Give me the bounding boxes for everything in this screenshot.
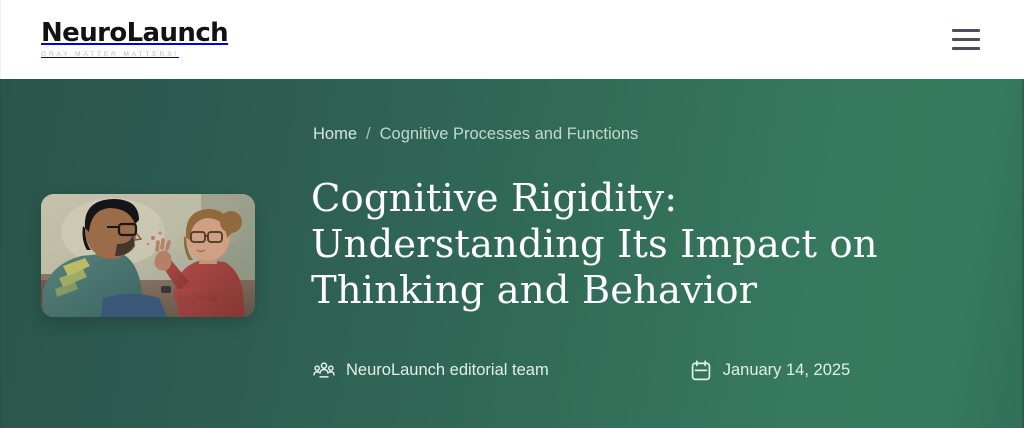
article-thumbnail[interactable] [41, 194, 255, 317]
thumbnail-illustration [41, 194, 255, 317]
breadcrumb-item-current[interactable]: Cognitive Processes and Functions [380, 125, 639, 144]
article-author-label: NeuroLaunch editorial team [346, 361, 549, 380]
page-root: NeuroLaunch GRAY MATTER MATTERS! [0, 0, 1024, 428]
users-group-icon [313, 359, 335, 381]
article-author: NeuroLaunch editorial team [313, 359, 549, 381]
brand-tagline: GRAY MATTER MATTERS! [41, 52, 228, 59]
page-title: Cognitive Rigidity: Understanding Its Im… [311, 176, 911, 314]
site-logo[interactable]: NeuroLaunch GRAY MATTER MATTERS! [41, 20, 228, 59]
hamburger-menu-icon[interactable] [950, 25, 984, 55]
hamburger-bar-3 [952, 47, 980, 50]
article-hero: Home / Cognitive Processes and Functions… [0, 79, 1024, 428]
page-left-edge [0, 0, 1, 428]
article-date-label: January 14, 2025 [723, 361, 851, 380]
page-title-line-3: Thinking and Behavior [311, 268, 757, 313]
breadcrumb-separator: / [366, 125, 371, 144]
breadcrumb-item-home[interactable]: Home [313, 125, 357, 144]
brand-name: NeuroLaunch [41, 20, 228, 47]
breadcrumb: Home / Cognitive Processes and Functions [313, 125, 638, 144]
hero-inner: Home / Cognitive Processes and Functions… [0, 79, 1024, 428]
site-header: NeuroLaunch GRAY MATTER MATTERS! [0, 0, 1024, 79]
article-date: January 14, 2025 [690, 359, 851, 381]
hamburger-bar-1 [952, 29, 980, 32]
hamburger-bar-2 [952, 38, 980, 41]
article-meta: NeuroLaunch editorial team January 14, 2… [313, 359, 850, 381]
page-title-line-1: Cognitive Rigidity: [311, 176, 677, 221]
page-title-line-2: Understanding Its Impact on [311, 222, 878, 267]
calendar-icon [690, 359, 712, 381]
